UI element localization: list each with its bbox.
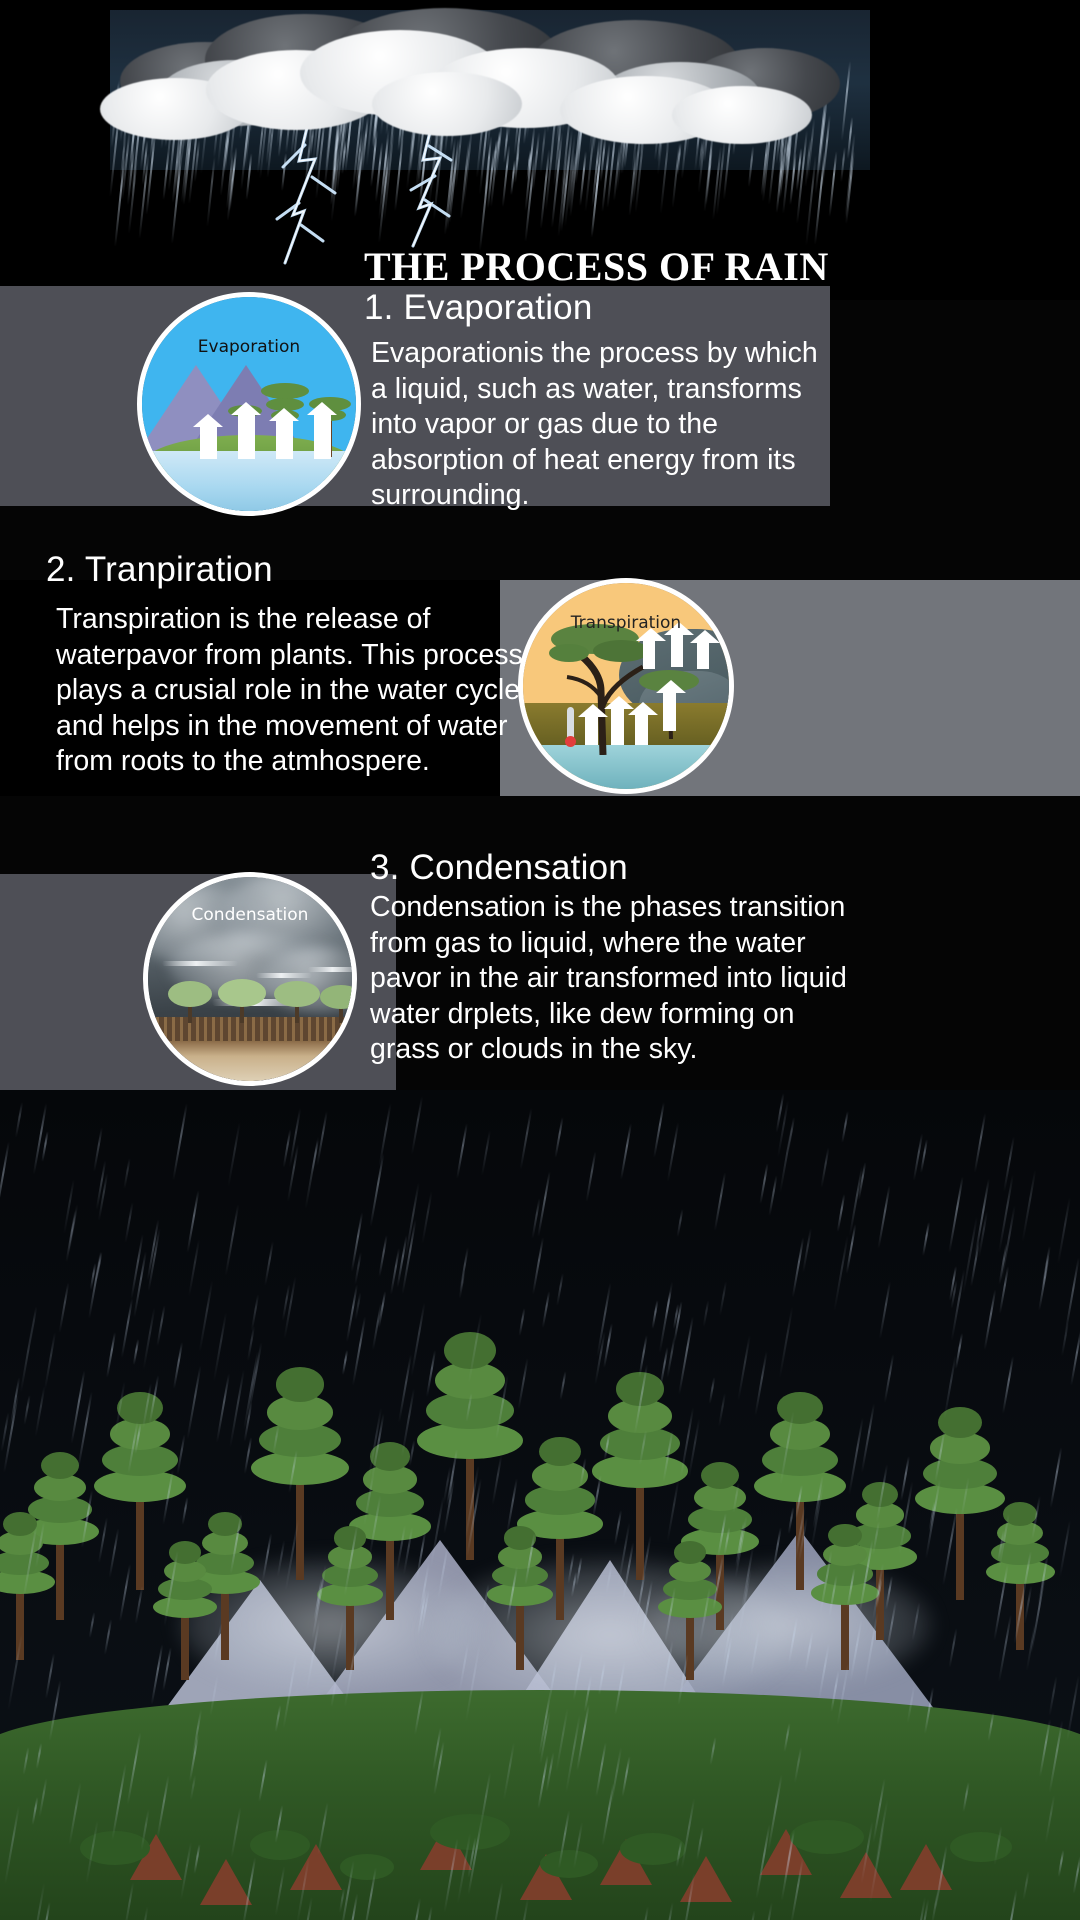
bush [950, 1832, 1012, 1862]
bush [540, 1850, 598, 1878]
tree [168, 979, 212, 1023]
tree-canopy [334, 1526, 367, 1549]
infographic-poster: THE PROCESS OF RAIN 1. Evaporation Evapo… [0, 0, 1080, 1920]
tree-canopy [3, 1512, 37, 1536]
evaporation-illustration: Evaporation [137, 292, 361, 516]
mist-streak [308, 967, 357, 972]
tree-canopy [276, 1367, 324, 1401]
page-title: THE PROCESS OF RAIN [364, 243, 829, 290]
water-body [142, 451, 356, 511]
vapor-arrow [585, 715, 598, 745]
tree-canopy [674, 1541, 706, 1563]
section-1-heading: 1. Evaporation [364, 288, 593, 328]
vapor-arrow [671, 633, 683, 667]
tree-canopy [41, 1452, 79, 1479]
section-2-heading: 2. Tranpiration [46, 550, 273, 590]
pine-tree [0, 1510, 55, 1660]
bottom-forest-illustration [0, 1090, 1080, 1920]
bush [340, 1854, 394, 1880]
tree-canopy [777, 1392, 822, 1424]
lightning-bolt-left [255, 115, 365, 265]
bush [430, 1814, 510, 1850]
vapor-arrow [663, 691, 676, 731]
vapor-arrow [643, 639, 655, 669]
tree-canopy [117, 1392, 162, 1424]
vapor-arrow [200, 425, 217, 459]
cloud-light-7 [372, 72, 522, 136]
section-2-body: Transpiration is the release of waterpav… [56, 602, 526, 780]
pine-tree [317, 1525, 384, 1670]
pine-tree [487, 1525, 554, 1670]
vapor-arrow [611, 707, 624, 745]
tree-canopy [828, 1524, 861, 1548]
condensation-label: Condensation [148, 905, 352, 925]
tree-canopy [444, 1332, 496, 1369]
evaporation-label: Evaporation [142, 337, 356, 357]
section-3-body: Condensation is the phases transition fr… [370, 890, 850, 1068]
tree-canopy [539, 1437, 581, 1467]
cloud-light-6 [672, 86, 812, 144]
vapor-arrow [276, 419, 293, 459]
tree-canopy [701, 1462, 739, 1489]
condensation-illustration: Condensation [143, 872, 357, 1086]
tree [218, 977, 266, 1023]
tree [320, 981, 357, 1023]
bush [250, 1830, 310, 1860]
thermometer-bulb [565, 736, 576, 747]
vapor-arrow [635, 713, 648, 745]
bush [790, 1820, 864, 1854]
transpiration-label: Transpiration [523, 613, 729, 633]
pine-tree [153, 1540, 217, 1680]
mist-streak [162, 961, 238, 966]
tree [274, 979, 320, 1023]
vapor-arrow [314, 413, 331, 459]
vapor-arrow [697, 641, 709, 669]
section-3-heading: 3. Condensation [370, 848, 628, 888]
lightning-bolt-right [385, 120, 495, 250]
section-1-body: Evaporationis the process by which a liq… [371, 336, 831, 514]
vapor-arrow [238, 413, 255, 459]
pine-tree [811, 1522, 879, 1670]
transpiration-illustration: Transpiration [518, 578, 734, 794]
rock [680, 1856, 732, 1902]
rock [200, 1859, 252, 1905]
